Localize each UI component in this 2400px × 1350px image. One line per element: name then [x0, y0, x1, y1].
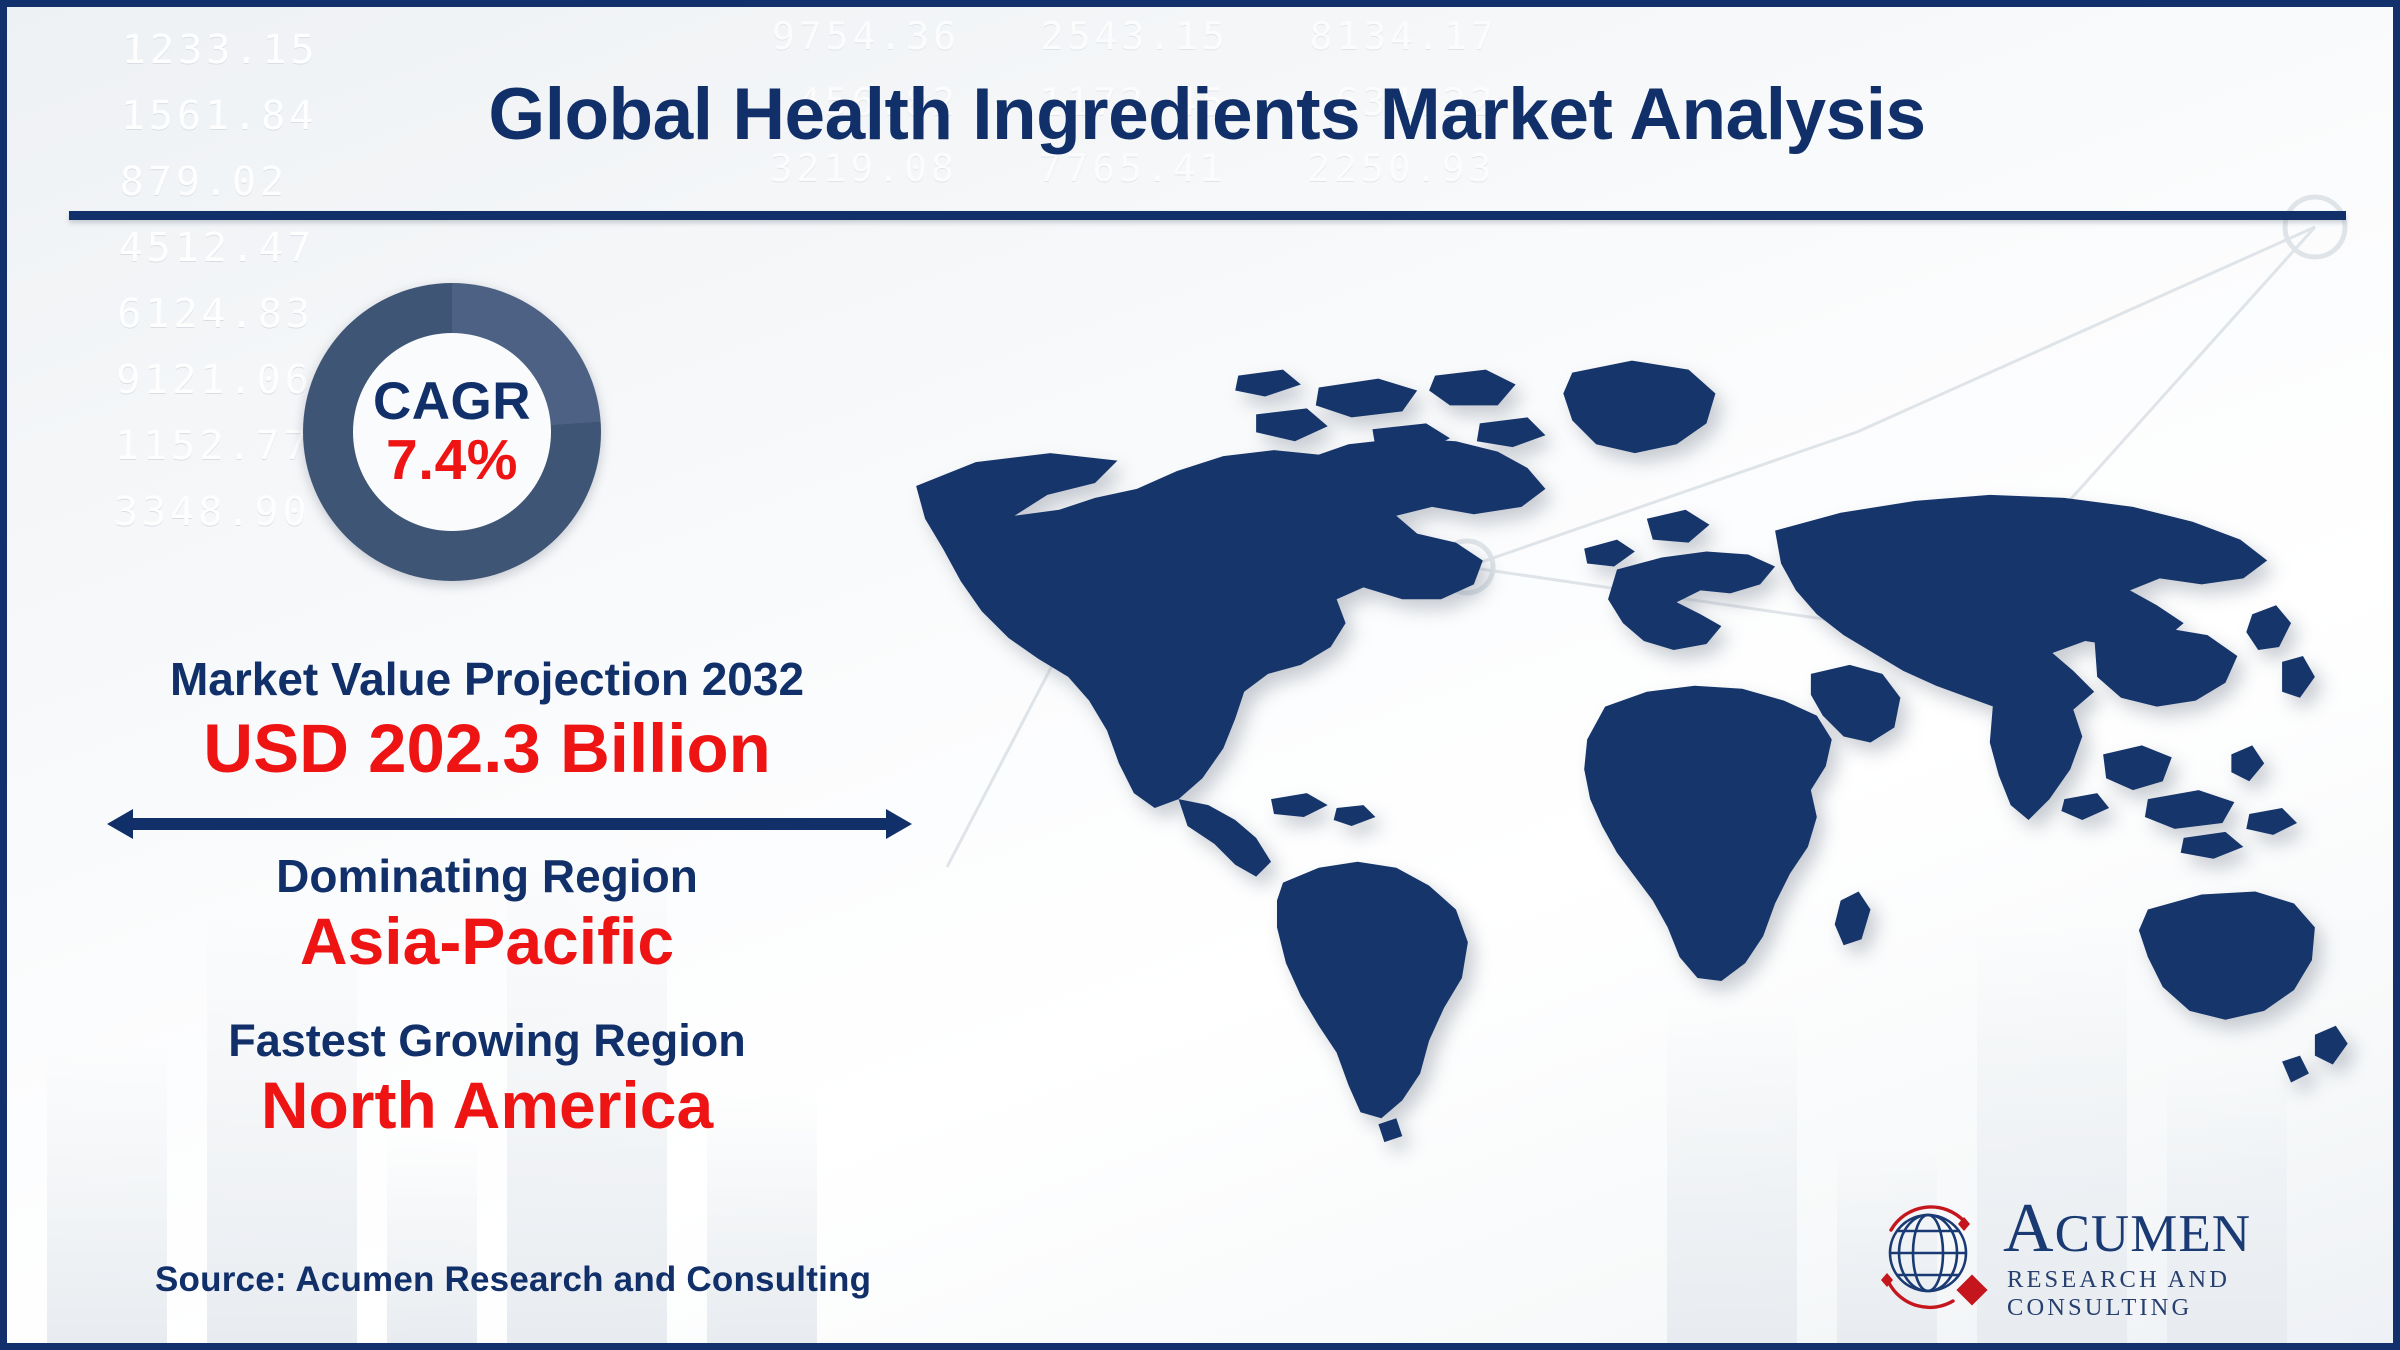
stat-market-value-label: Market Value Projection 2032	[67, 655, 907, 704]
stat-dominating-region: Dominating Region Asia-Pacific	[67, 852, 907, 977]
stat-market-value: Market Value Projection 2032 USD 202.3 B…	[67, 655, 907, 785]
logo-word-remainder: CUMEN	[2055, 1205, 2251, 1263]
stat-market-value-amount: USD 202.3 Billion	[67, 712, 907, 785]
donut-center-labels: CAGR 7.4%	[303, 283, 601, 581]
logo-word-acumen: ACUMEN	[2003, 1196, 2355, 1262]
cagr-label: CAGR	[373, 375, 531, 429]
logo-tagline: RESEARCH AND CONSULTING	[2007, 1266, 2355, 1322]
stat-fastest-growing-region-value: North America	[67, 1071, 907, 1141]
cagr-value: 7.4%	[386, 431, 518, 489]
page-title: Global Health Ingredients Market Analysi…	[7, 73, 2400, 156]
infographic-poster: 1233.15 1561.84 879.02 4512.47 6124.83 9…	[0, 0, 2400, 1350]
source-note: Source: Acumen Research and Consulting	[155, 1260, 871, 1300]
acumen-logo: ACUMEN RESEARCH AND CONSULTING	[1869, 1195, 2355, 1323]
title-divider-rule	[69, 211, 2346, 220]
stat-dominating-region-label: Dominating Region	[67, 852, 907, 901]
arrow-divider	[107, 807, 912, 841]
stat-fastest-growing-region: Fastest Growing Region North America	[67, 1017, 907, 1141]
stat-dominating-region-value: Asia-Pacific	[67, 907, 907, 977]
stat-fastest-growing-region-label: Fastest Growing Region	[67, 1017, 907, 1065]
logo-word-initial: A	[2003, 1190, 2055, 1267]
world-map-svg	[867, 307, 2367, 1157]
logo-wordmark: ACUMEN RESEARCH AND CONSULTING	[2003, 1196, 2355, 1322]
cagr-donut-chart: CAGR 7.4%	[303, 283, 601, 581]
globe-icon	[1869, 1195, 1997, 1323]
world-map	[867, 307, 2367, 1157]
